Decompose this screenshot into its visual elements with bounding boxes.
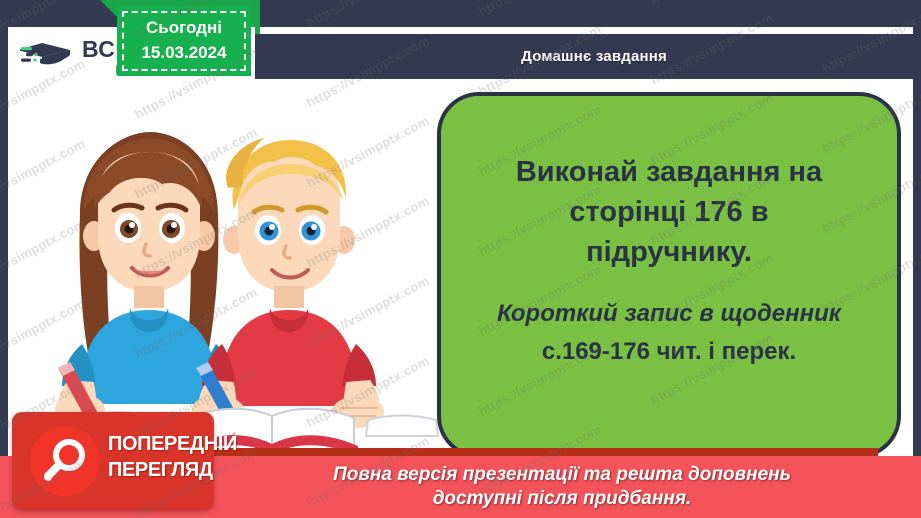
- today-date-badge: Сьогодні 15.03.2024: [117, 6, 251, 76]
- today-label: Сьогодні: [146, 16, 222, 41]
- homework-main-text: Виконай завдання на сторінці 176 в підру…: [483, 152, 855, 272]
- preview-badge[interactable]: ПОПЕРЕДНІЙ ПЕРЕГЛЯД: [12, 412, 214, 510]
- preview-badge-line1: ПОПЕРЕДНІЙ: [108, 432, 208, 458]
- graduation-cap-icon: [20, 39, 78, 73]
- purchase-banner-text: Повна версія презентації та решта доповн…: [232, 463, 892, 512]
- homework-content-box: Виконай завдання на сторінці 176 в підру…: [437, 92, 901, 458]
- preview-badge-line2: ПЕРЕГЛЯД: [108, 458, 208, 484]
- homework-note-text: Короткий запис в щоденник: [489, 298, 849, 330]
- purchase-banner-line2: доступні після придбання.: [232, 487, 892, 512]
- purchase-banner-line1: Повна версія презентації та решта доповн…: [232, 463, 892, 488]
- boy-figure: [195, 138, 384, 438]
- homework-pages-text: с.169-176 чит. і перек.: [542, 336, 796, 367]
- two-children-writing-illustration: [22, 118, 442, 460]
- magnifier-icon: [30, 426, 100, 496]
- today-date: 15.03.2024: [141, 41, 226, 66]
- slide-canvas: Виконай завдання на сторінці 176 в підру…: [0, 0, 921, 518]
- page-title: Домашнє завдання: [521, 48, 667, 65]
